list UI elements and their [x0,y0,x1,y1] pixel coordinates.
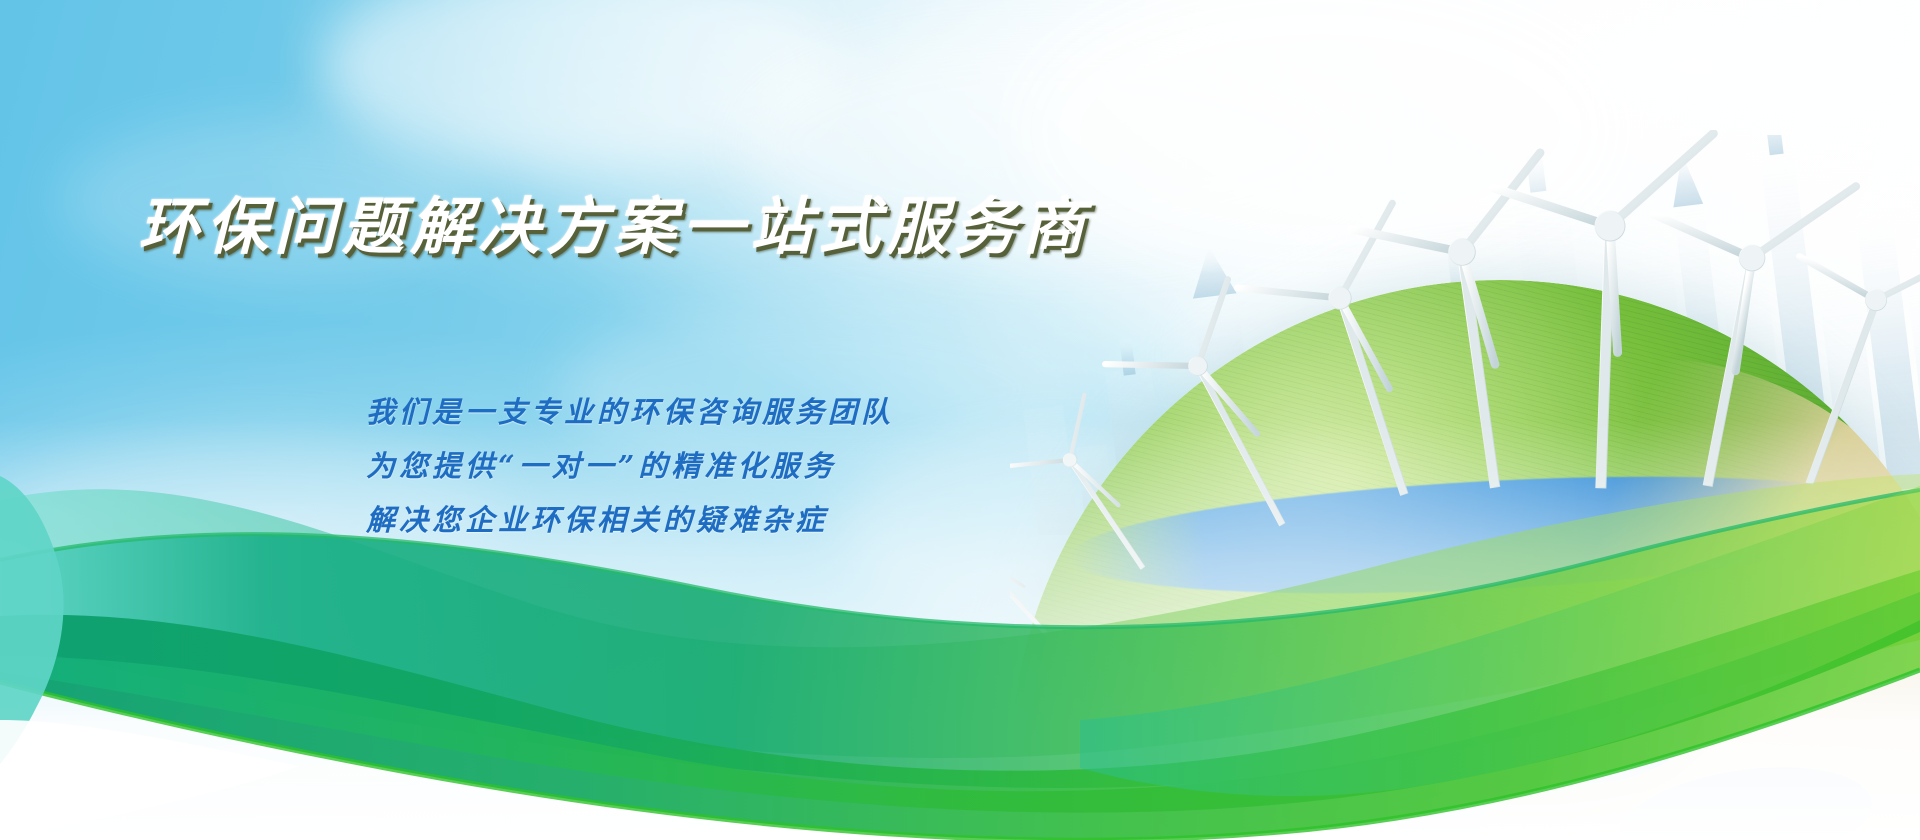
page-title: 环保问题解决方案一站式服务商 [138,196,1090,258]
subtitle-line-1: 我们是一支专业的环保咨询服务团队 [366,398,894,427]
wave-svg [0,420,1920,840]
subtitle-line-2: 为您提供“一对一”的精准化服务 [366,452,836,481]
eco-banner: 环保问题解决方案一站式服务商 我们是一支专业的环保咨询服务团队 为您提供“一对一… [0,0,1920,840]
green-wave-ribbon [0,420,1920,840]
subtitle-line-3: 解决您企业环保相关的疑难杂症 [366,506,828,535]
